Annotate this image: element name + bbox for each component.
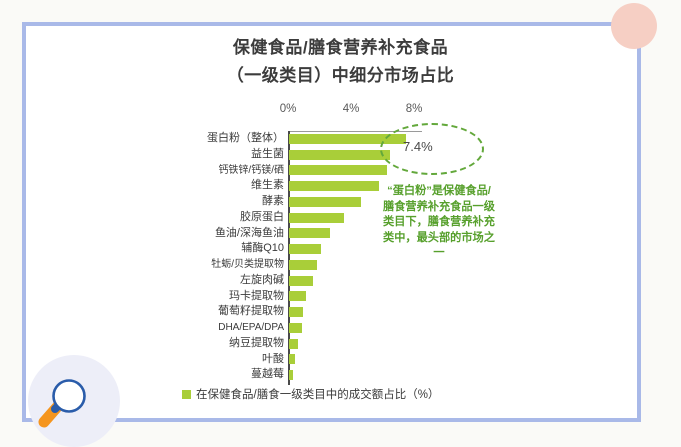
bar xyxy=(289,244,321,254)
bar xyxy=(289,213,344,223)
category-label: 左旋肉碱 xyxy=(150,273,284,289)
bar xyxy=(289,228,330,238)
category-label: 胶原蛋白 xyxy=(150,210,284,226)
bar xyxy=(289,370,293,380)
category-label: 蔓越莓 xyxy=(150,367,284,383)
bar xyxy=(289,323,302,333)
bar xyxy=(289,291,306,301)
legend-label: 在保健食品/膳食一级类目中的成交额占比（%） xyxy=(196,386,439,402)
callout-value: 7.4% xyxy=(403,139,433,154)
bar xyxy=(289,150,390,160)
category-label: 酵素 xyxy=(150,194,284,210)
bar xyxy=(289,197,361,207)
bar-row xyxy=(289,320,406,336)
x-tick-label: 0% xyxy=(280,103,297,115)
category-label: DHA/EPA/DPA xyxy=(150,320,284,336)
bar-row xyxy=(289,304,406,320)
bar-row xyxy=(289,163,406,179)
slide-canvas: 保健食品/膳食营养补充食品 （一级类目）中细分市场占比 0%4%8% 蛋白粉（整… xyxy=(0,0,681,447)
category-label: 纳豆提取物 xyxy=(150,336,284,352)
bar-chart: 0%4%8% 蛋白粉（整体）益生菌钙铁锌/钙镁/硒维生素酵素胶原蛋白鱼油/深海鱼… xyxy=(0,0,681,447)
bar-row xyxy=(289,273,406,289)
bar-row xyxy=(289,336,406,352)
bar xyxy=(289,276,313,286)
annotation-text: “蛋白粉”是保健食品/膳食营养补充食品一级类目下，膳食营养补充类中，最头部的市场… xyxy=(383,184,495,262)
bar-row xyxy=(289,289,406,305)
category-label: 维生素 xyxy=(150,178,284,194)
category-label: 鱼油/深海鱼油 xyxy=(150,226,284,242)
x-tick-label: 8% xyxy=(406,103,423,115)
bar-row xyxy=(289,367,406,383)
x-tick-label: 4% xyxy=(343,103,360,115)
category-label: 叶酸 xyxy=(150,352,284,368)
bar-row xyxy=(289,352,406,368)
bar xyxy=(289,354,295,364)
legend: 在保健食品/膳食一级类目中的成交额占比（%） xyxy=(182,386,439,402)
bar xyxy=(289,165,387,175)
category-label: 牡蛎/贝类提取物 xyxy=(150,257,284,273)
category-label: 益生菌 xyxy=(150,147,284,163)
bar xyxy=(289,339,298,349)
category-axis-labels: 蛋白粉（整体）益生菌钙铁锌/钙镁/硒维生素酵素胶原蛋白鱼油/深海鱼油辅酶Q10牡… xyxy=(150,131,284,383)
bar xyxy=(289,307,303,317)
legend-swatch xyxy=(182,390,191,399)
category-label: 蛋白粉（整体） xyxy=(150,131,284,147)
bar xyxy=(289,181,379,191)
category-label: 玛卡提取物 xyxy=(150,289,284,305)
category-label: 辅酶Q10 xyxy=(150,241,284,257)
bar xyxy=(289,260,317,270)
category-label: 钙铁锌/钙镁/硒 xyxy=(150,163,284,179)
category-label: 葡萄籽提取物 xyxy=(150,304,284,320)
